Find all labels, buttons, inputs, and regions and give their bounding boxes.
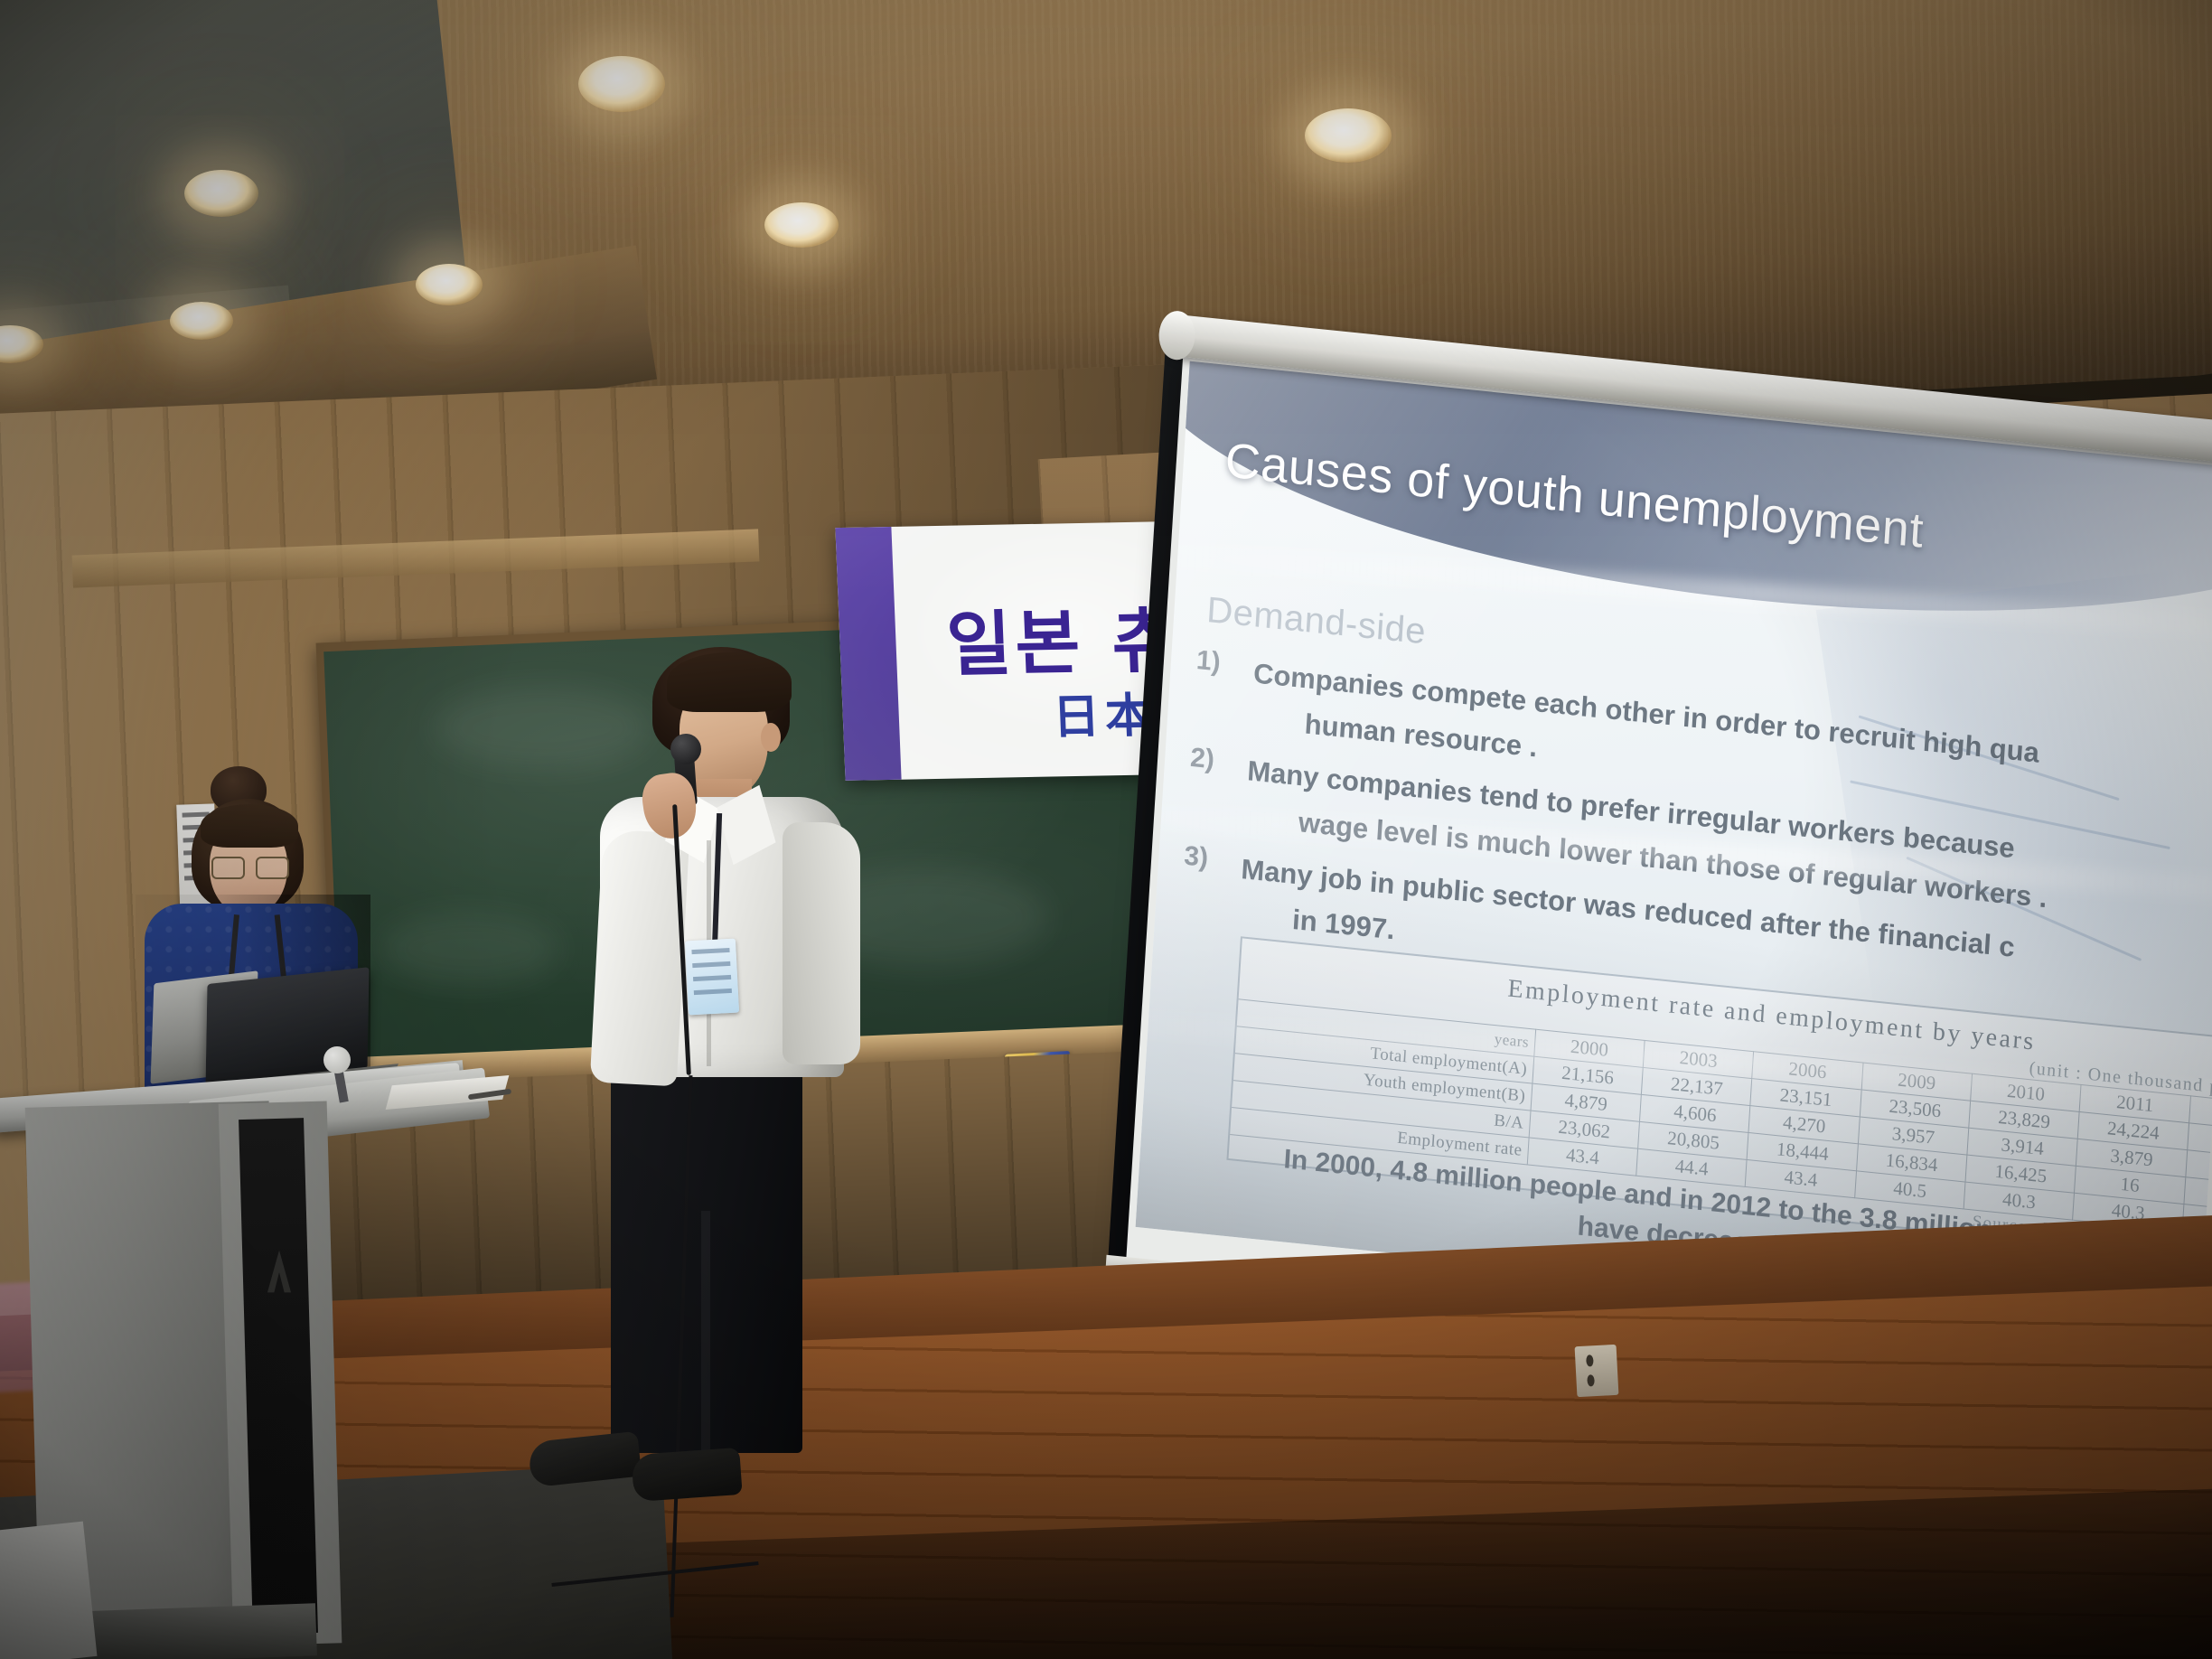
photo-scene: 일본 츄오 日本 中 Causes of youth unemployment …	[0, 0, 2212, 1659]
projected-slide: Causes of youth unemployment Demand-side…	[1136, 361, 2212, 1336]
podium-microphone-head-icon[interactable]	[323, 1046, 351, 1073]
presenter-trouser-seam	[701, 1211, 710, 1455]
presenter-right-arm	[783, 822, 860, 1064]
presenter-left-arm	[590, 829, 690, 1087]
chalk-smudge	[434, 687, 651, 768]
badge-line	[694, 989, 732, 995]
ceiling-downlight	[578, 56, 665, 112]
slide-subtitle: Demand-side	[1205, 590, 1427, 653]
ceiling-downlight	[170, 302, 233, 340]
wall-socket[interactable]	[1575, 1345, 1619, 1397]
microphone-head-icon[interactable]	[670, 734, 701, 764]
presenter-shoe-right	[631, 1448, 742, 1502]
presenter-ear	[761, 723, 781, 752]
podium-emblem-icon	[262, 1247, 296, 1298]
badge-line	[692, 961, 730, 968]
bullet-number: 3)	[1183, 840, 1228, 876]
ceiling-downlight	[764, 202, 839, 248]
chalk-smudge	[380, 913, 560, 985]
bullet-number: 1)	[1195, 645, 1241, 680]
socket-slot	[1587, 1374, 1595, 1386]
badge-line	[691, 948, 729, 954]
bullet-number: 2)	[1189, 743, 1234, 778]
operator-glasses	[211, 857, 286, 876]
badge-line	[693, 975, 731, 981]
glasses-lens-left	[211, 857, 245, 879]
presenter-name-badge	[685, 939, 739, 1016]
operator-hair-front	[201, 804, 298, 848]
ceiling-downlight	[1305, 108, 1392, 163]
podium-front-panel	[0, 1522, 97, 1659]
ceiling-downlight	[184, 170, 258, 217]
ceiling-downlight	[416, 264, 483, 305]
glasses-lens-right	[256, 857, 289, 879]
socket-slot	[1586, 1354, 1594, 1366]
presenter-hair-front	[667, 652, 792, 712]
